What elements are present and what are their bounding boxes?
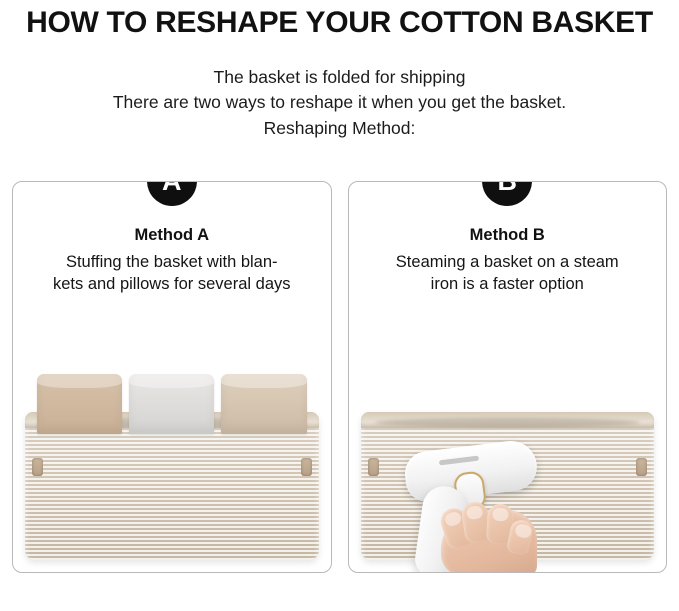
intro-text: The basket is folded for shipping There … — [0, 65, 679, 141]
basket-handle-left-b — [368, 458, 379, 476]
method-card-a: A Method A Stuffing the basket with blan… — [12, 181, 332, 573]
blanket-gray — [129, 374, 214, 434]
method-a-illustration — [13, 317, 331, 572]
method-b-description: Steaming a basket on a steam iron is a f… — [349, 251, 667, 296]
intro-line-1: The basket is folded for shipping — [0, 65, 679, 90]
method-a-desc-line-2: kets and pillows for several days — [23, 273, 321, 295]
fingernail — [514, 523, 532, 539]
blanket-beige — [37, 374, 122, 434]
method-b-illustration — [349, 317, 667, 572]
basket-handle-left-a — [32, 458, 43, 476]
hand-holding-steamer — [441, 496, 551, 573]
basket-handle-right-a — [301, 458, 312, 476]
intro-line-3: Reshaping Method: — [0, 116, 679, 141]
blanket-tan — [221, 374, 306, 434]
intro-line-2: There are two ways to reshape it when yo… — [0, 90, 679, 115]
infographic-page: HOW TO RESHAPE YOUR COTTON BASKET The ba… — [0, 0, 679, 611]
cotton-basket-a — [25, 412, 319, 560]
method-cards: A Method A Stuffing the basket with blan… — [0, 181, 679, 573]
method-b-name: Method B — [349, 226, 667, 245]
method-a-desc-line-1: Stuffing the basket with blan- — [23, 251, 321, 273]
fingernail — [465, 505, 483, 520]
method-b-desc-line-2: iron is a faster option — [359, 273, 657, 295]
folded-blankets — [37, 374, 307, 434]
fingernail — [443, 510, 462, 527]
method-a-description: Stuffing the basket with blan- kets and … — [13, 251, 331, 296]
method-b-desc-line-1: Steaming a basket on a steam — [359, 251, 657, 273]
method-card-b: B Method B Steaming a basket on a steam … — [348, 181, 668, 573]
method-a-name: Method A — [13, 226, 331, 245]
page-title: HOW TO RESHAPE YOUR COTTON BASKET — [0, 0, 679, 39]
basket-handle-right-b — [636, 458, 647, 476]
fingernail — [492, 508, 509, 522]
